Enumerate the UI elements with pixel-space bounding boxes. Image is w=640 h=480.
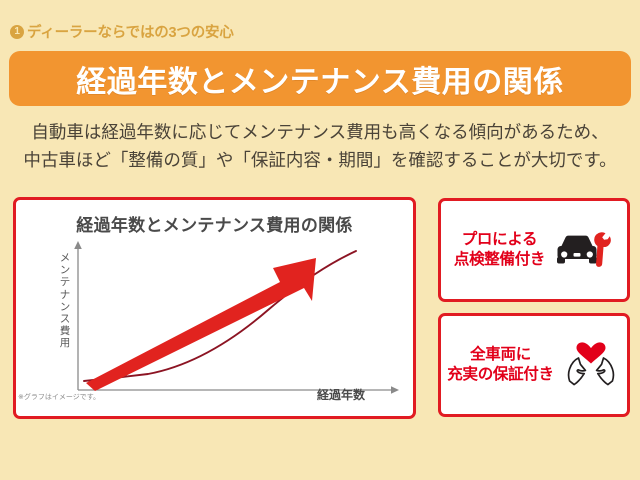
hands-heart-icon <box>561 342 621 388</box>
headline-banner: 経過年数とメンテナンス費用の関係 <box>9 51 631 106</box>
chart-title: 経過年数とメンテナンス費用の関係 <box>16 211 413 236</box>
y-axis-arrowhead <box>74 241 82 249</box>
inspection-card-line-1: プロによる <box>454 230 545 250</box>
x-axis-arrowhead <box>391 386 399 394</box>
left-hand-icon <box>568 358 585 385</box>
inspection-card-text: プロによる 点検整備付き <box>454 230 545 270</box>
inspection-card-line-2: 点検整備付き <box>454 250 545 270</box>
lead-line-1: 自動車は経過年数に応じてメンテナンス費用も高くなる傾向があるため、 <box>0 118 640 146</box>
warranty-card-text: 全車両に 充実の保証付き <box>447 345 553 385</box>
growth-arrow-icon <box>86 258 316 391</box>
step-number-badge: 1 <box>10 25 24 39</box>
lead-paragraph: 自動車は経過年数に応じてメンテナンス費用も高くなる傾向があるため、 中古車ほど「… <box>0 118 640 174</box>
warranty-card-icons <box>561 342 621 388</box>
infographic-page: 1 ディーラーならではの3つの安心 経過年数とメンテナンス費用の関係 自動車は経… <box>0 0 640 480</box>
x-axis-label: 経過年数 <box>317 386 365 403</box>
right-hand-icon <box>596 358 613 385</box>
lead-line-2: 中古車ほど「整備の質」や「保証内容・期間」を確認することが大切です。 <box>0 146 640 174</box>
chart-disclaimer-note: ※グラフはイメージです。 <box>18 392 100 402</box>
inspection-card: プロによる 点検整備付き <box>438 198 630 302</box>
banner-title: 経過年数とメンテナンス費用の関係 <box>76 57 563 101</box>
car-wrench-icon-group <box>552 230 614 270</box>
warranty-card-line-2: 充実の保証付き <box>447 365 553 385</box>
heart-icon <box>576 342 605 363</box>
warranty-card: 全車両に 充実の保証付き <box>438 313 630 417</box>
car-icon <box>557 236 597 264</box>
growth-arrow-shape <box>86 258 316 391</box>
y-axis-label: メンテナンス費用 <box>57 252 73 350</box>
warranty-card-line-1: 全車両に <box>447 345 553 365</box>
wrench-icon <box>594 232 611 267</box>
eyebrow-text: ディーラーならではの3つの安心 <box>27 21 234 42</box>
inspection-card-icons <box>552 230 614 270</box>
eyebrow-label: 1 ディーラーならではの3つの安心 <box>10 21 234 42</box>
